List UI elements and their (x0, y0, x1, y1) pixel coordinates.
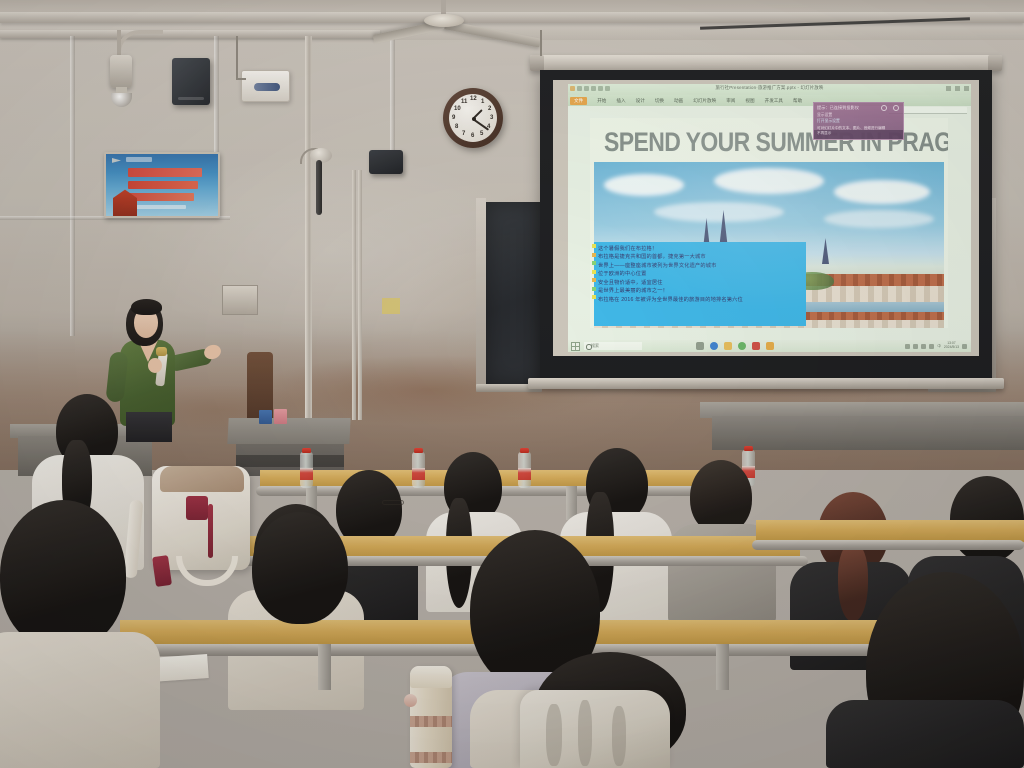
backpack-accent (186, 496, 208, 520)
blackboard-left (486, 202, 540, 384)
bottle-cap (744, 446, 753, 451)
eyeglasses (382, 500, 404, 505)
wps-icon[interactable] (752, 342, 760, 350)
classroom-photo: 12 1 2 3 4 5 6 7 8 9 10 11 (0, 0, 1024, 768)
minimize-icon[interactable] (946, 86, 951, 91)
bottle-label (518, 468, 531, 480)
powerpoint-notification-dialog[interactable]: 提示：已连接到投影仪 显示设置 打开显示设置 可对幻灯片中的文本、图片、音频进行… (813, 102, 904, 140)
window-controls[interactable] (946, 86, 969, 91)
slide-text-line: 是世界上最美丽的城市之一！ (598, 287, 802, 295)
backpack-zipper (208, 504, 213, 558)
ribbon-tab-insert[interactable]: 插入 (616, 98, 625, 104)
close-icon[interactable] (964, 86, 969, 91)
ppt-title-bar: 旅行社Presentation·旅游推广方案.pptx - 幻灯片放映 (568, 84, 971, 95)
ribbon-tab-file[interactable]: 文件 (570, 97, 587, 105)
windows-taskbar[interactable]: 搜索 中 13:07 2024/5/13 (568, 340, 971, 352)
student-torso (0, 632, 160, 768)
desk-rail (256, 486, 748, 496)
student-ponytail (838, 544, 868, 622)
bottle-cap (414, 448, 423, 453)
desk-row (756, 520, 1024, 542)
desk-leg (318, 644, 331, 690)
jacket-fold (612, 706, 626, 766)
ime-indicator[interactable]: 中 (937, 344, 941, 349)
poster-line-2 (128, 181, 198, 189)
browser-icon[interactable] (710, 342, 718, 350)
student-torso (826, 700, 1024, 768)
bullet-marker (592, 295, 596, 299)
ribbon-tab-transition[interactable]: 切换 (655, 98, 664, 104)
slide-text-box: 这个暑假我们在布拉格！ 布拉格是捷克共和国的首都，捷克第一大城市 世界上——座整… (594, 242, 806, 326)
wall-junction-box (222, 285, 258, 315)
clock-numeral: 5 (480, 131, 483, 137)
dialog-title: 提示：已连接到投影仪 (814, 103, 903, 113)
presenter-hair-front (131, 299, 162, 315)
backpack-flap (160, 466, 244, 492)
notification-icon[interactable] (905, 344, 910, 349)
screen-case-end-right (988, 55, 1002, 71)
student-head (252, 512, 348, 624)
bullet-marker (592, 270, 596, 274)
system-tray[interactable]: 中 13:07 2024/5/13 (905, 342, 971, 350)
maximize-icon[interactable] (955, 86, 960, 91)
chrome-icon[interactable] (738, 342, 746, 350)
microphone-stick (316, 160, 322, 215)
thermos-pattern-band (410, 752, 452, 763)
thermos-cap (410, 666, 452, 688)
front-counter-right-body (712, 416, 1024, 450)
projection-screen-case (530, 55, 1002, 71)
file-explorer-icon[interactable] (724, 342, 732, 350)
taskbar-search-input[interactable]: 搜索 (584, 342, 642, 350)
flag-icon (112, 158, 121, 165)
taskbar-app-list[interactable] (696, 342, 774, 350)
thermos-pattern-band (410, 716, 452, 727)
cloud (714, 168, 824, 194)
clock-face: 12 1 2 3 4 5 6 7 8 9 10 11 (449, 94, 497, 142)
dialog-close-icon[interactable] (893, 105, 899, 111)
security-camera-icon (110, 55, 132, 88)
ceiling-fan-hub (424, 14, 464, 27)
slide-text-line: 安全且物价适中，适宜居住 (598, 279, 802, 287)
clock-numeral: 1 (481, 99, 484, 105)
taskbar-clock[interactable]: 13:07 2024/5/13 (944, 342, 959, 350)
presenter-right-hand (148, 358, 162, 373)
bullet-marker (592, 253, 596, 257)
wall-seam-c (70, 36, 75, 336)
pipe-tape (382, 298, 400, 314)
ribbon-tab-design[interactable]: 设计 (636, 98, 645, 104)
ac-cable-bend (236, 78, 246, 80)
slide-text-line: 这个暑假我们在布拉格！ (598, 245, 802, 253)
powerpoint-projection: 旅行社Presentation·旅游推广方案.pptx - 幻灯片放映 文件 开… (568, 84, 971, 352)
clock-center-pin (472, 117, 476, 121)
clock-numeral: 11 (461, 99, 467, 105)
bullet-marker (592, 261, 596, 265)
bottle-label (412, 468, 425, 480)
cloud (654, 202, 784, 222)
ppt-slide: SPEND YOUR SUMMER IN PRAGUE! (590, 118, 948, 328)
taskbar-date: 2024/5/13 (944, 346, 959, 350)
air-conditioner-icon (241, 70, 290, 102)
backpack-handle (176, 556, 238, 586)
poster-line-1 (128, 168, 202, 177)
ppt-ribbon[interactable]: 文件 开始 插入 设计 切换 动画 幻灯片放映 审阅 视图 开发工具 帮助 (568, 95, 971, 106)
screen-cable-left (540, 30, 542, 56)
slide-text-line: 布拉格是捷克共和国的首都，捷克第一大城市 (598, 253, 802, 261)
desk-rail (752, 540, 1024, 550)
bullet-column (592, 244, 597, 304)
wall-pipe-thin (352, 170, 356, 420)
camera-arm (117, 30, 163, 58)
desk-leg (716, 644, 729, 690)
bullet-marker (592, 287, 596, 291)
blackboard-left-frame (476, 198, 486, 388)
propaganda-poster (104, 152, 220, 218)
bullet-marker (592, 278, 596, 282)
ac-cable (236, 36, 238, 80)
cloud (824, 210, 934, 228)
blue-box (259, 410, 272, 424)
chevron-up-icon[interactable] (913, 344, 918, 349)
task-view-icon[interactable] (696, 342, 704, 350)
wall-speaker-icon (172, 58, 210, 105)
clock-numeral: 3 (490, 115, 493, 121)
ribbon-tab-home[interactable]: 开始 (597, 98, 606, 104)
clock-numeral: 6 (471, 133, 474, 139)
jacket-fold (578, 700, 592, 766)
poster-line-3 (128, 193, 194, 201)
dialog-dismiss-checkbox[interactable]: 不再显示 (814, 130, 903, 139)
pink-box (274, 409, 287, 424)
church-spire (822, 238, 829, 264)
wall-seam-b (390, 36, 395, 156)
slide-text-line: 位于欧洲的中心位置 (598, 270, 802, 278)
clock-numeral: 7 (462, 131, 465, 137)
podium (227, 418, 350, 444)
clock-numeral: 8 (455, 124, 458, 130)
projection-screen-bottom-bar (528, 378, 1004, 389)
cloud (834, 180, 930, 204)
wall-pipe-main (305, 36, 312, 426)
student-head (690, 460, 752, 534)
draped-jacket (520, 690, 670, 768)
dialog-settings-icon[interactable] (881, 105, 887, 111)
cloud (604, 174, 684, 196)
thermos-hook (404, 694, 417, 707)
clock-numeral: 2 (488, 106, 491, 112)
poster-line-4 (130, 205, 186, 209)
screen-case-end-left (530, 55, 544, 71)
projector-mount-icon (369, 150, 403, 174)
clock-numeral: 10 (454, 106, 461, 112)
network-icon[interactable] (921, 344, 926, 349)
ribbon-tab-help[interactable]: 帮助 (793, 98, 802, 104)
ribbon-tab-view[interactable]: 视图 (745, 98, 754, 104)
slide-text-line: 世界上——座整座城市被列为世界文化遗产的城市 (598, 262, 802, 270)
ceiling-beam-secondary (0, 30, 380, 38)
wall-pipe-thin-2 (358, 170, 362, 420)
ribbon-tab-developer[interactable]: 开发工具 (765, 98, 783, 104)
ac-logo (254, 83, 280, 91)
action-center-icon[interactable] (962, 344, 967, 349)
clock-numeral: 9 (452, 115, 455, 121)
bullet-marker (592, 244, 596, 248)
jacket-fold (546, 704, 562, 766)
ppt-document-title: 旅行社Presentation·旅游推广方案.pptx - 幻灯片放映 (568, 85, 971, 91)
microphone-head (156, 347, 167, 356)
clock-numeral: 12 (470, 96, 477, 102)
slide-text-line: 布拉格在 2016 年被评为全世界最佳的旅游目的地排名第六位 (598, 296, 802, 304)
student-head (0, 500, 126, 650)
tiananmen-icon (110, 186, 140, 216)
media-icon[interactable] (766, 342, 774, 350)
start-button-icon[interactable] (571, 342, 580, 351)
presenter-skirt (126, 412, 172, 442)
ribbon-tab-review[interactable]: 审阅 (726, 98, 735, 104)
dialog-link[interactable]: 打开显示设置 (814, 118, 903, 125)
poster-header-text (126, 157, 152, 162)
ribbon-tab-animation[interactable]: 动画 (674, 98, 683, 104)
bottle-cap (520, 448, 529, 453)
bottle-label (300, 468, 313, 480)
bottle-cap (302, 448, 311, 453)
wall-clock: 12 1 2 3 4 5 6 7 8 9 10 11 (443, 88, 503, 148)
volume-icon[interactable] (929, 344, 934, 349)
ribbon-tab-slideshow[interactable]: 幻灯片放映 (693, 98, 716, 104)
podium-shadow (236, 455, 344, 467)
